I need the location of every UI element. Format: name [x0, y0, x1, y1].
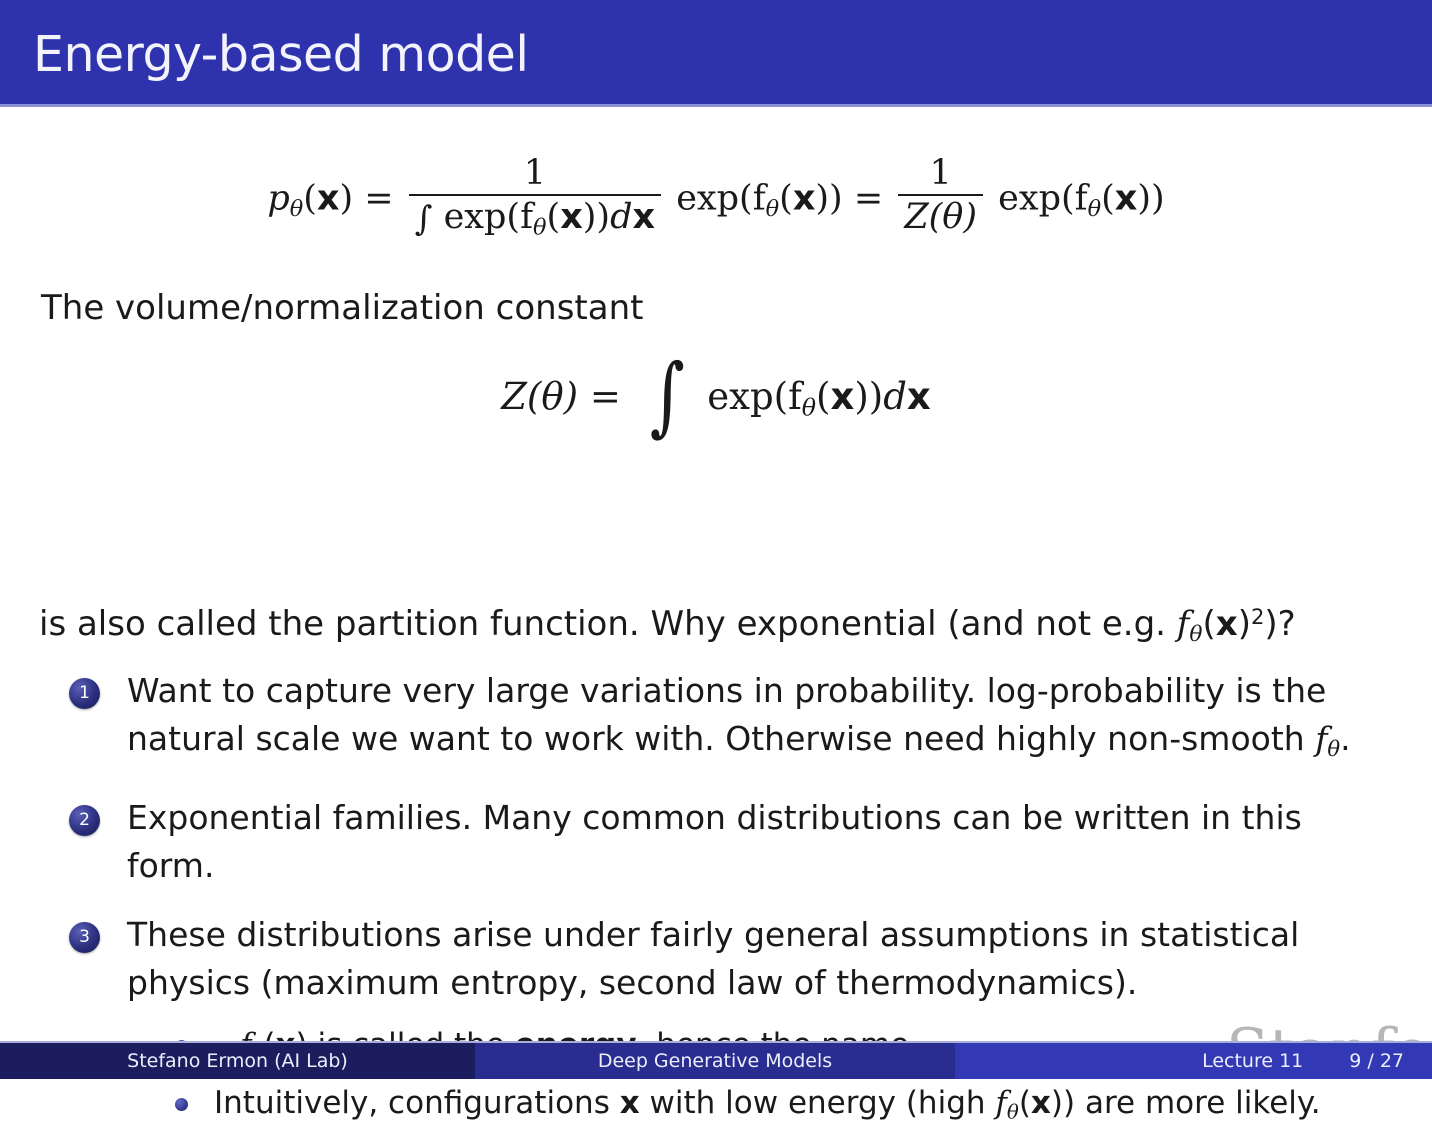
eq1-frac1-sub: θ — [533, 214, 546, 240]
eq2-equals: = — [590, 375, 621, 418]
eq1-exp-1-sub: θ — [766, 196, 779, 222]
eq1-frac1-exp: exp(f — [444, 197, 533, 237]
integral-icon: ∫ — [415, 199, 433, 239]
sub-item-2-math-sub: θ — [1007, 1100, 1019, 1123]
eq1-fraction-1: 1 ∫ exp(fθ(x))dx — [409, 155, 661, 239]
eq1-exp-1: exp(f — [676, 179, 765, 219]
sub-item-2-text-mid: with low energy (high — [640, 1085, 996, 1121]
footer-lecture-number: Lecture 11 — [1202, 1050, 1303, 1072]
footer-lecture-info: Lecture 11 9 / 27 — [955, 1043, 1432, 1079]
partition-text-after: )? — [1264, 604, 1295, 644]
eq1-exp-2-sub: θ — [1088, 196, 1101, 222]
list-item: 3 These distributions arise under fairly… — [64, 911, 1394, 1007]
page-title: Energy-based model — [33, 28, 528, 82]
eq1-lhs-paren-open: ( — [303, 179, 317, 219]
sub-item-2-text-after: ) are more likely. — [1063, 1085, 1321, 1121]
equation-partition-function: Z(θ) = ∫ exp(fθ(x))dx — [0, 375, 1432, 422]
partition-math-sub: θ — [1189, 622, 1202, 647]
list-item: Intuitively, configurations x with low e… — [168, 1079, 1428, 1136]
eq1-frac2-denominator: Z(θ) — [898, 194, 983, 237]
slide-body: pθ(x) = 1 ∫ exp(fθ(x))dx exp(fθ(x)) = 1 … — [0, 107, 1432, 1041]
list-item-1-math-f: f — [1315, 719, 1327, 758]
list-item: 1 Want to capture very large variations … — [64, 667, 1394, 773]
footer-course: Deep Generative Models — [475, 1043, 955, 1079]
eq2-lhs: Z(θ) — [501, 375, 578, 418]
sub-item-2-math-f: f — [995, 1085, 1006, 1121]
list-item-3-text: These distributions arise under fairly g… — [127, 915, 1299, 1002]
eq2-sub: θ — [802, 394, 816, 422]
footer-page-number: 9 / 27 — [1349, 1050, 1404, 1072]
eq1-exp-2: exp(f — [998, 179, 1087, 219]
list-item: 2 Exponential families. Many common dist… — [64, 794, 1394, 890]
paragraph-partition-function: is also called the partition function. W… — [39, 604, 1296, 647]
bullet-dot-icon — [175, 1098, 188, 1111]
equation-p-theta: pθ(x) = 1 ∫ exp(fθ(x))dx exp(fθ(x)) = 1 … — [0, 155, 1432, 239]
list-number-badge-2: 2 — [69, 805, 100, 836]
partition-text-before: is also called the partition function. W… — [39, 604, 1177, 644]
eq1-frac2-numerator: 1 — [898, 155, 983, 194]
partition-math-f: f — [1177, 604, 1190, 644]
eq1-frac1-denominator: ∫ exp(fθ(x))dx — [409, 194, 661, 239]
list-item-1-math-sub: θ — [1327, 736, 1340, 761]
list-number-badge-1: 1 — [69, 678, 100, 709]
partition-math-sup: 2 — [1251, 604, 1264, 629]
footer-author: Stefano Ermon (AI Lab) — [0, 1043, 475, 1079]
list-number-badge-3: 3 — [69, 922, 100, 953]
list-item-1-text: Want to capture very large variations in… — [127, 671, 1326, 758]
list-item-1-text-after: . — [1340, 719, 1351, 758]
eq1-lhs-x: x — [317, 179, 340, 219]
slide-footer: Stefano Ermon (AI Lab) Deep Generative M… — [0, 1043, 1432, 1079]
eq1-frac1-numerator: 1 — [409, 155, 661, 194]
eq1-lhs-sub: θ — [290, 196, 303, 222]
sub-item-2-bold-x: x — [620, 1085, 640, 1121]
eq1-fraction-2: 1 Z(θ) — [898, 155, 983, 237]
eq1-lhs: p — [267, 179, 289, 219]
eq1-lhs-paren-close: ) — [339, 179, 353, 219]
list-item-2-text: Exponential families. Many common distri… — [127, 798, 1302, 885]
numbered-list: 1 Want to capture very large variations … — [64, 667, 1394, 1028]
slide-title-bar: Energy-based model — [0, 0, 1432, 104]
eq2-exp: exp(f — [707, 375, 802, 418]
eq1-equals-1: = — [364, 179, 393, 219]
paragraph-volume-constant: The volume/normalization constant — [41, 288, 643, 328]
eq1-equals-2: = — [854, 179, 883, 219]
sub-item-2-text-before: Intuitively, configurations — [214, 1085, 620, 1121]
